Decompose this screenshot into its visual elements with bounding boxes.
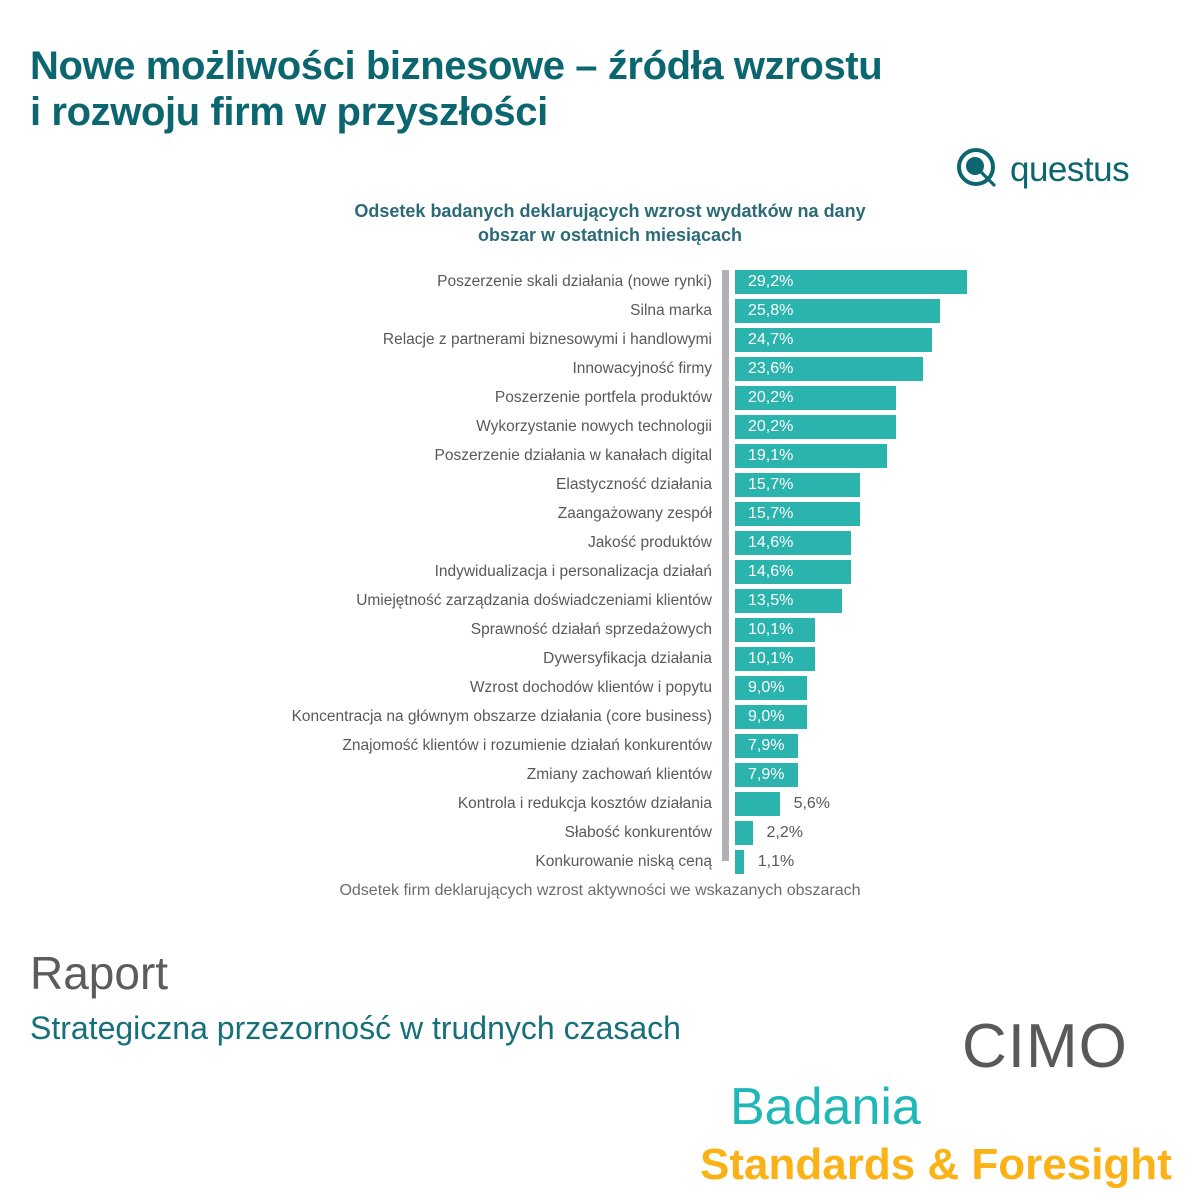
bar-row: Słabość konkurentów2,2% (0, 821, 1200, 845)
bar-category-label: Innowacyjność firmy (572, 358, 712, 380)
bar-value-label: 1,1% (758, 850, 794, 874)
bar-row: Innowacyjność firmy23,6% (0, 357, 1200, 381)
bar-row: Poszerzenie skali działania (nowe rynki)… (0, 270, 1200, 294)
bar-row: Dywersyfikacja działania10,1% (0, 647, 1200, 671)
bar-row: Zaangażowany zespół15,7% (0, 502, 1200, 526)
bar (735, 792, 780, 816)
bar-value-label: 19,1% (748, 444, 793, 468)
report-word: Raport (30, 950, 168, 996)
chart-footnote: Odsetek firm deklarujących wzrost aktywn… (0, 882, 1200, 900)
bar-row: Silna marka25,8% (0, 299, 1200, 323)
bar-category-label: Wykorzystanie nowych technologii (476, 416, 712, 438)
bar-chart: Odsetek badanych deklarujących wzrost wy… (0, 200, 1200, 870)
bar-row: Koncentracja na głównym obszarze działan… (0, 705, 1200, 729)
bar-value-label: 10,1% (748, 647, 793, 671)
bar-row: Sprawność działań sprzedażowych10,1% (0, 618, 1200, 642)
bar-category-label: Wzrost dochodów klientów i popytu (470, 677, 712, 699)
bar-row: Poszerzenie działania w kanałach digital… (0, 444, 1200, 468)
bar-value-label: 23,6% (748, 357, 793, 381)
bar-row: Kontrola i redukcja kosztów działania5,6… (0, 792, 1200, 816)
bar-category-label: Jakość produktów (588, 532, 712, 554)
bar-value-label: 15,7% (748, 473, 793, 497)
bar-row: Wzrost dochodów klientów i popytu9,0% (0, 676, 1200, 700)
bar-row: Konkurowanie niską ceną1,1% (0, 850, 1200, 874)
bar-category-label: Kontrola i redukcja kosztów działania (458, 793, 712, 815)
bar-category-label: Znajomość klientów i rozumienie działań … (342, 735, 712, 757)
page-title: Nowe możliwości biznesowe – źródła wzros… (30, 44, 1160, 135)
bar-value-label: 10,1% (748, 618, 793, 642)
bar-row: Umiejętność zarządzania doświadczeniami … (0, 589, 1200, 613)
bar-value-label: 20,2% (748, 386, 793, 410)
bar-category-label: Zmiany zachowań klientów (527, 764, 712, 786)
bar-value-label: 29,2% (748, 270, 793, 294)
bar-category-label: Poszerzenie portfela produktów (495, 387, 712, 409)
bar (735, 850, 744, 874)
bar-value-label: 9,0% (748, 676, 784, 700)
bar-category-label: Słabość konkurentów (565, 822, 712, 844)
bar-category-label: Dywersyfikacja działania (543, 648, 712, 670)
bar-row: Jakość produktów14,6% (0, 531, 1200, 555)
bar-row: Znajomość klientów i rozumienie działań … (0, 734, 1200, 758)
bar-value-label: 14,6% (748, 531, 793, 555)
bar-value-label: 7,9% (748, 763, 784, 787)
bar-value-label: 5,6% (794, 792, 830, 816)
standards-foresight-label: Standards & Foresight (700, 1143, 1172, 1187)
bar-category-label: Umiejętność zarządzania doświadczeniami … (356, 590, 712, 612)
chart-title: Odsetek badanych deklarujących wzrost wy… (340, 200, 880, 248)
bar-rows: Poszerzenie skali działania (nowe rynki)… (0, 270, 1200, 879)
bar-category-label: Silna marka (630, 300, 712, 322)
bar-value-label: 9,0% (748, 705, 784, 729)
infographic-page: Nowe możliwości biznesowe – źródła wzros… (0, 0, 1200, 1200)
bar-category-label: Koncentracja na głównym obszarze działan… (292, 706, 712, 728)
page-title-line-2: i rozwoju firm w przyszłości (30, 90, 1160, 136)
questus-q-icon (955, 146, 1001, 192)
bar-category-label: Poszerzenie skali działania (nowe rynki) (437, 271, 712, 293)
bar-value-label: 24,7% (748, 328, 793, 352)
bar-value-label: 25,8% (748, 299, 793, 323)
bar-row: Wykorzystanie nowych technologii20,2% (0, 415, 1200, 439)
bar-category-label: Indywidualizacja i personalizacja działa… (435, 561, 712, 583)
bar-category-label: Zaangażowany zespół (558, 503, 712, 525)
cimo-logo: CIMO (962, 1016, 1128, 1078)
bar-category-label: Poszerzenie działania w kanałach digital (435, 445, 712, 467)
bar-value-label: 15,7% (748, 502, 793, 526)
page-title-line-1: Nowe możliwości biznesowe – źródła wzros… (30, 44, 1160, 90)
bar-row: Zmiany zachowań klientów7,9% (0, 763, 1200, 787)
badania-label: Badania (730, 1081, 921, 1133)
bar-category-label: Konkurowanie niską ceną (535, 851, 712, 873)
bar-category-label: Elastyczność działania (556, 474, 712, 496)
bar (735, 821, 753, 845)
bar-value-label: 13,5% (748, 589, 793, 613)
bar-value-label: 7,9% (748, 734, 784, 758)
questus-logo: questus (955, 146, 1129, 192)
chart-plot-area: Poszerzenie skali działania (nowe rynki)… (0, 270, 1200, 870)
bar-value-label: 20,2% (748, 415, 793, 439)
bar-category-label: Relacje z partnerami biznesowymi i handl… (383, 329, 712, 351)
bar-row: Relacje z partnerami biznesowymi i handl… (0, 328, 1200, 352)
bar-row: Elastyczność działania15,7% (0, 473, 1200, 497)
bar-row: Indywidualizacja i personalizacja działa… (0, 560, 1200, 584)
bar-value-label: 14,6% (748, 560, 793, 584)
bar-row: Poszerzenie portfela produktów20,2% (0, 386, 1200, 410)
questus-wordmark: questus (1010, 152, 1129, 187)
bar-value-label: 2,2% (767, 821, 803, 845)
bar-category-label: Sprawność działań sprzedażowych (471, 619, 712, 641)
report-subtitle: Strategiczna przezorność w trudnych czas… (30, 1012, 681, 1044)
